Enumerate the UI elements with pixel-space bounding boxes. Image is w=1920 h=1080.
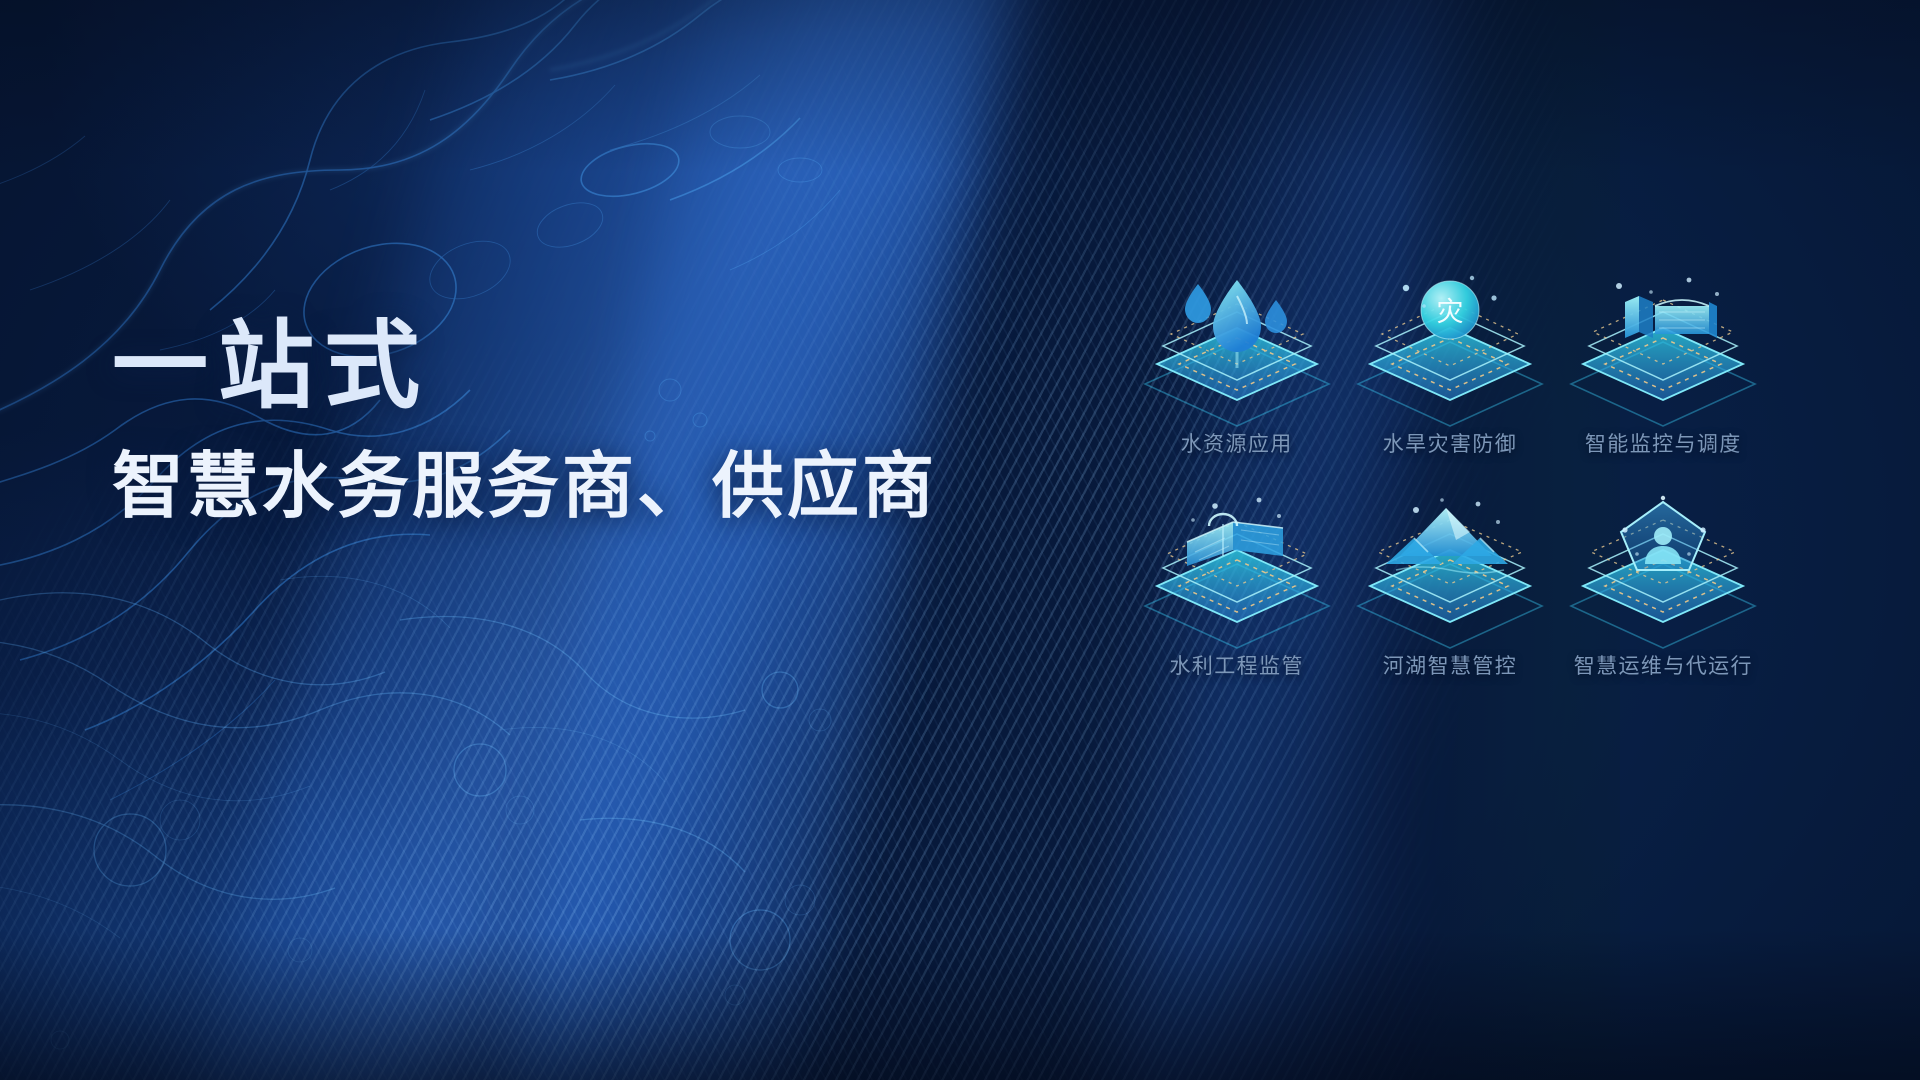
water-drop-icon xyxy=(1133,272,1341,424)
service-item-water-resource[interactable]: 水资源应用 xyxy=(1130,272,1343,458)
headline-block: 一站式 智慧水务服务商、供应商 xyxy=(112,316,937,527)
page-title: 一站式 xyxy=(112,316,937,418)
service-item-smart-operations[interactable]: 智慧运维与代运行 xyxy=(1557,494,1770,680)
service-label: 河湖智慧管控 xyxy=(1383,650,1517,680)
service-label: 智能监控与调度 xyxy=(1585,428,1742,458)
service-label: 水资源应用 xyxy=(1181,428,1293,458)
mountain-river-icon xyxy=(1346,494,1554,646)
monitoring-city-icon xyxy=(1559,272,1767,424)
shield-person-icon xyxy=(1559,494,1767,646)
service-item-river-lake-control[interactable]: 河湖智慧管控 xyxy=(1343,494,1556,680)
service-label: 水旱灾害防御 xyxy=(1383,428,1517,458)
service-label: 智慧运维与代运行 xyxy=(1574,650,1753,680)
service-item-disaster-defense[interactable]: 灾 水旱灾害防御 xyxy=(1343,272,1556,458)
slide-canvas: 一站式 智慧水务服务商、供应商 xyxy=(0,0,1920,1080)
disaster-badge-text: 灾 xyxy=(1436,297,1463,327)
service-label: 水利工程监管 xyxy=(1169,650,1303,680)
service-icon-grid: 水资源应用 xyxy=(1130,272,1770,680)
service-item-monitoring-dispatch[interactable]: 智能监控与调度 xyxy=(1557,272,1770,458)
page-subtitle: 智慧水务服务商、供应商 xyxy=(112,448,937,527)
service-item-engineering-supervision[interactable]: 水利工程监管 xyxy=(1130,494,1343,680)
dam-engineering-icon xyxy=(1133,494,1341,646)
disaster-sphere-icon: 灾 xyxy=(1346,272,1554,424)
